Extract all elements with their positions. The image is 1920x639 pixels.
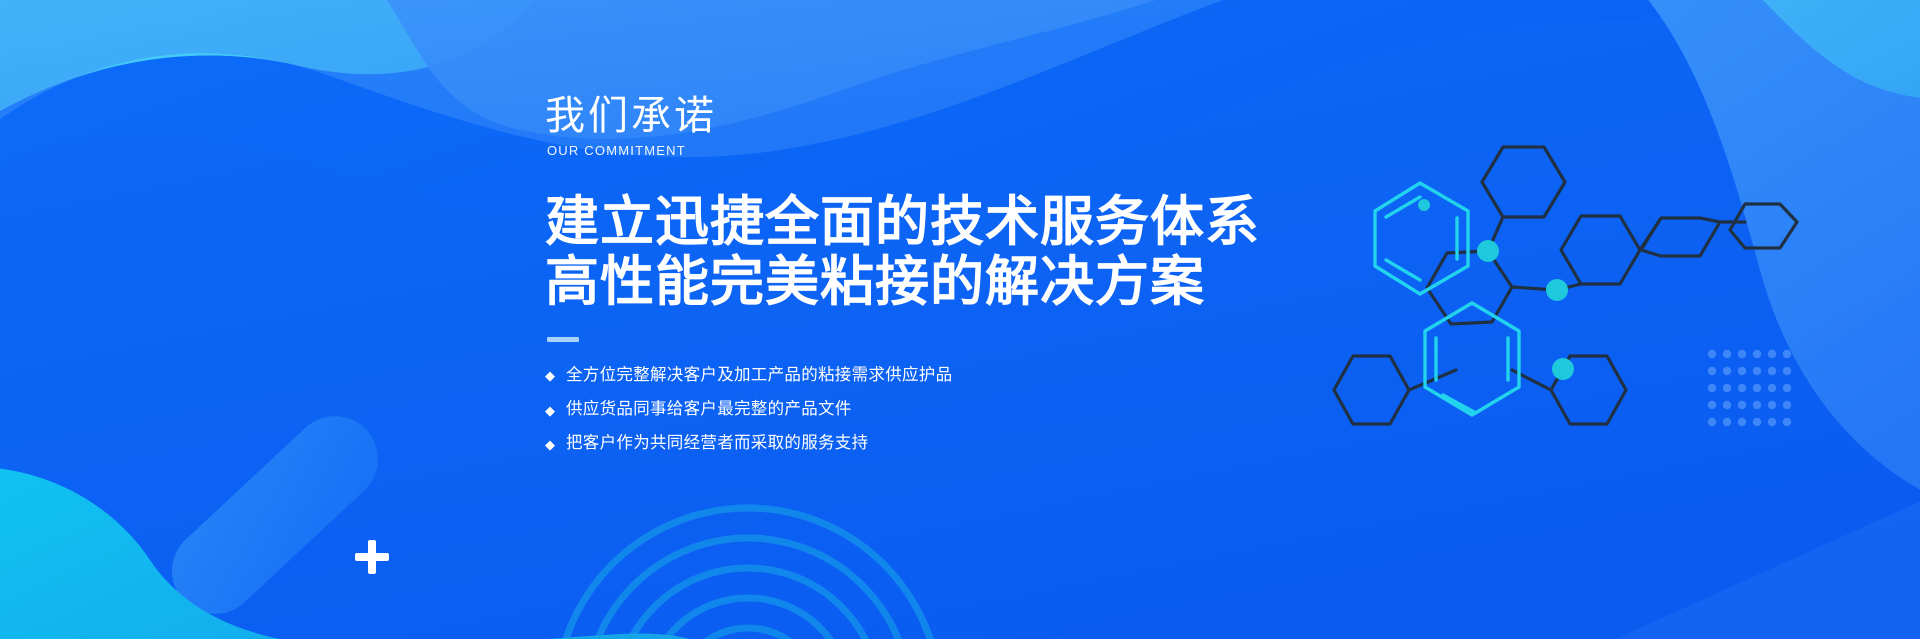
diamond-bullet-icon: ◆ (545, 369, 555, 382)
banner-content: 我们承诺 OUR COMMITMENT 建立迅捷全面的技术服务体系 高性能完美粘… (545, 96, 1305, 467)
list-item-label: 把客户作为共同经营者而采取的服务支持 (566, 432, 868, 454)
node-middle (1546, 279, 1568, 301)
list-item-label: 全方位完整解决客户及加工产品的粘接需求供应护品 (566, 364, 952, 386)
eyebrow-block: 我们承诺 OUR COMMITMENT (545, 96, 1305, 158)
list-item: ◆ 把客户作为共同经营者而采取的服务支持 (545, 432, 1305, 454)
diamond-bullet-icon: ◆ (545, 404, 555, 417)
node-small-top (1418, 199, 1430, 211)
diamond-bullet-icon: ◆ (545, 438, 555, 451)
benefits-list: ◆ 全方位完整解决客户及加工产品的粘接需求供应护品 ◆ 供应货品同事给客户最完整… (545, 364, 1305, 455)
headline-line-2: 高性能完美粘接的解决方案 (545, 252, 1305, 312)
plus-icon (355, 540, 391, 576)
list-item: ◆ 全方位完整解决客户及加工产品的粘接需求供应护品 (545, 364, 1305, 386)
promo-banner: 我们承诺 OUR COMMITMENT 建立迅捷全面的技术服务体系 高性能完美粘… (0, 0, 1920, 639)
list-item: ◆ 供应货品同事给客户最完整的产品文件 (545, 398, 1305, 420)
node-upper (1477, 240, 1499, 262)
headline-line-1: 建立迅捷全面的技术服务体系 (545, 192, 1305, 252)
headline-block: 建立迅捷全面的技术服务体系 高性能完美粘接的解决方案 (545, 192, 1305, 313)
list-item-label: 供应货品同事给客户最完整的产品文件 (566, 398, 852, 420)
eyebrow-chinese: 我们承诺 (545, 96, 1305, 137)
divider-rule (547, 337, 579, 342)
eyebrow-english: OUR COMMITMENT (547, 143, 1305, 158)
node-lower (1552, 358, 1574, 380)
